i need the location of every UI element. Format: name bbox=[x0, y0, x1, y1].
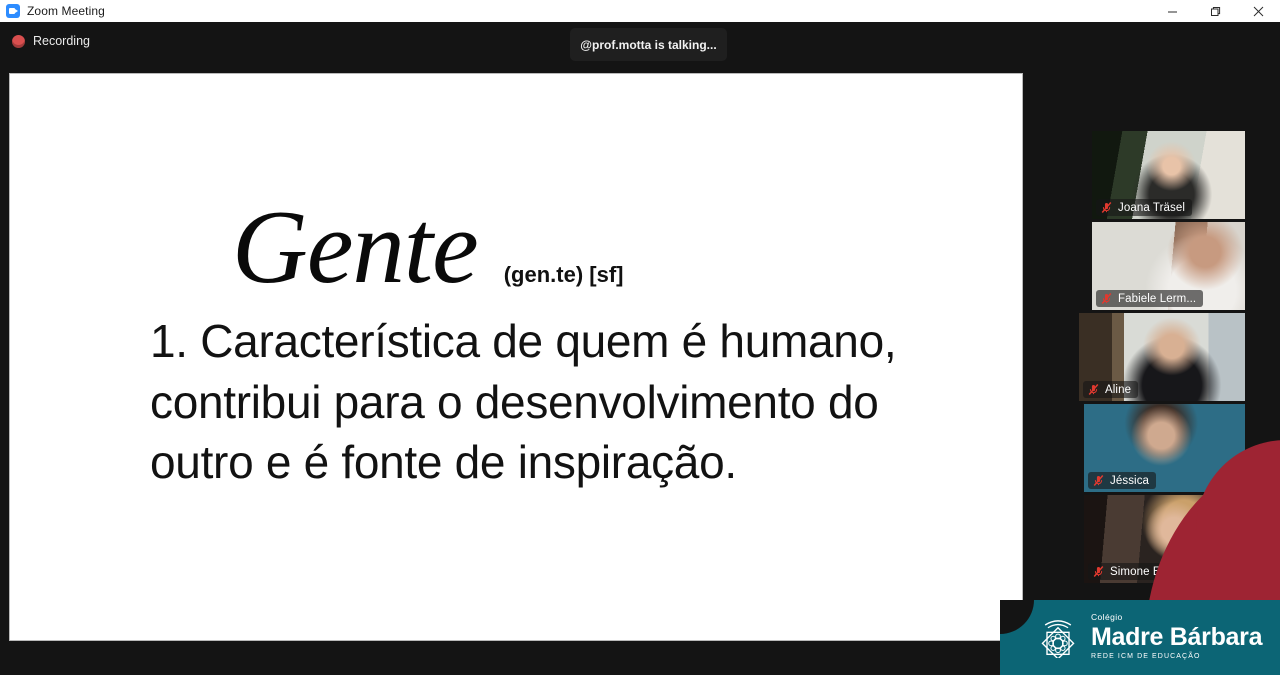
participant-name-badge: Aline bbox=[1083, 381, 1138, 398]
active-speaker-banner: @prof.motta is talking... bbox=[570, 28, 727, 61]
mic-muted-icon bbox=[1092, 474, 1105, 487]
mic-muted-icon bbox=[1087, 383, 1100, 396]
slide-heading: Gente (gen.te) [sf] bbox=[10, 194, 1022, 299]
close-icon[interactable] bbox=[1237, 0, 1280, 22]
participant-tile[interactable]: Fabiele Lerm... bbox=[1092, 222, 1245, 310]
minimize-icon[interactable] bbox=[1151, 0, 1194, 22]
brand-prefix: Colégio bbox=[1091, 613, 1262, 622]
window-title: Zoom Meeting bbox=[27, 4, 105, 18]
participant-tile[interactable]: Joana Träsel bbox=[1092, 131, 1245, 219]
zoom-camera-icon bbox=[6, 4, 20, 18]
record-dot-icon bbox=[12, 35, 25, 48]
restore-icon[interactable] bbox=[1194, 0, 1237, 22]
star-rosette-icon bbox=[1036, 614, 1080, 658]
slide-phonetic: (gen.te) [sf] bbox=[504, 262, 624, 288]
mic-muted-icon bbox=[1100, 201, 1113, 214]
participant-name: Joana Träsel bbox=[1118, 202, 1185, 214]
window-titlebar: Zoom Meeting bbox=[0, 0, 1280, 22]
slide-brand-band: Colégio Madre Bárbara REDE ICM DE EDUCAÇ… bbox=[1000, 600, 1280, 675]
participant-name: Fabiele Lerm... bbox=[1118, 293, 1196, 305]
participant-name-badge: Joana Träsel bbox=[1096, 199, 1192, 216]
participant-name: Aline bbox=[1105, 384, 1131, 396]
mic-muted-icon bbox=[1092, 565, 1105, 578]
window-controls bbox=[1151, 0, 1280, 22]
recording-label: Recording bbox=[33, 34, 90, 48]
brand-name: Madre Bárbara bbox=[1091, 624, 1262, 650]
slide-term: Gente bbox=[232, 194, 478, 299]
participant-name-badge: Fabiele Lerm... bbox=[1096, 290, 1203, 307]
mic-muted-icon bbox=[1100, 292, 1113, 305]
slide-definition: 1. Característica de quem é humano, cont… bbox=[150, 311, 940, 493]
active-speaker-text: @prof.motta is talking... bbox=[580, 38, 716, 52]
recording-indicator[interactable]: Recording bbox=[12, 34, 90, 48]
participant-name: Jéssica bbox=[1110, 475, 1149, 487]
shared-screen-slide[interactable]: Gente (gen.te) [sf] 1. Característica de… bbox=[9, 73, 1023, 641]
brand-tagline: REDE ICM DE EDUCAÇÃO bbox=[1091, 653, 1262, 660]
participant-name-badge: Jéssica bbox=[1088, 472, 1156, 489]
participant-tile[interactable]: Aline bbox=[1079, 313, 1245, 401]
